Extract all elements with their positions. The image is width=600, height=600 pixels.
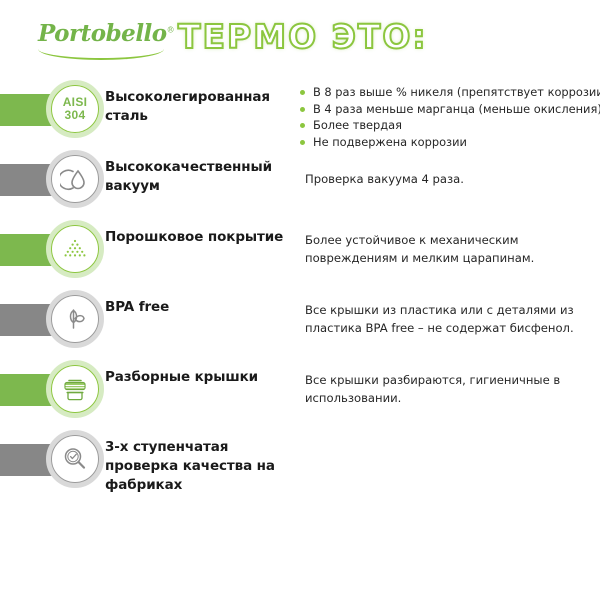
icon-circle-inner [51, 155, 99, 203]
powder-dots-icon [60, 234, 90, 264]
feature-description: Все крышки разбираются, гигиеничные в ис… [305, 371, 597, 407]
feature-title: Высоколегированная сталь [105, 88, 285, 126]
water-drop-icon [60, 164, 90, 194]
magnifier-check-icon [60, 444, 90, 474]
icon-circle [46, 290, 104, 348]
icon-circle: AISI 304 [46, 80, 104, 138]
header: Portobello® ТЕРМО ЭТО: [0, 0, 600, 80]
feature-description: Более устойчивое к механическим поврежде… [305, 231, 597, 267]
feature-description: Проверка вакуума 4 раза. [305, 170, 597, 188]
portobello-logo: Portobello® [38, 22, 168, 62]
feature-title: Высококачественный вакуум [105, 158, 285, 196]
list-item: Не подвержена коррозии [300, 134, 600, 151]
feature-title: Порошковое покрытие [105, 228, 285, 247]
feature-title: BPA free [105, 298, 285, 317]
icon-circle [46, 360, 104, 418]
feature-title: Разборные крышки [105, 368, 285, 387]
feature-row-steel: AISI 304 Высоколегированная сталь В 8 ра… [0, 80, 600, 150]
feature-row-powder-coating: Порошковое покрытие Более устойчивое к м… [0, 220, 600, 290]
icon-circle-inner [51, 225, 99, 273]
aisi-grade: 304 [63, 109, 88, 122]
leaf-icon [60, 304, 90, 334]
registered-mark-icon: ® [167, 25, 175, 34]
feature-row-vacuum: Высококачественный вакуум Проверка вакуу… [0, 150, 600, 220]
icon-circle-inner [51, 435, 99, 483]
feature-bullets: В 8 раз выше % никеля (препятствует корр… [300, 84, 600, 150]
feature-row-bpa-free: BPA free Все крышки из пластика или с де… [0, 290, 600, 360]
icon-circle [46, 430, 104, 488]
feature-list: AISI 304 Высоколегированная сталь В 8 ра… [0, 80, 600, 500]
list-item: В 8 раз выше % никеля (препятствует корр… [300, 84, 600, 101]
aisi-304-badge-icon: AISI 304 [63, 96, 88, 122]
feature-row-quality-check: 3-х ступенчатая проверка качества на фаб… [0, 430, 600, 500]
list-item: Более твердая [300, 117, 600, 134]
logo-swoosh-icon [38, 49, 164, 60]
feature-description: Все крышки из пластика или с деталями из… [305, 301, 597, 337]
logo-wordmark: Portobello® [38, 22, 168, 45]
list-item: В 4 раза меньше марганца (меньше окислен… [300, 101, 600, 118]
icon-circle-inner: AISI 304 [51, 85, 99, 133]
icon-circle-inner [51, 295, 99, 343]
logo-text: Portobello [38, 20, 167, 47]
feature-row-detachable-lids: Разборные крышки Все крышки разбираются,… [0, 360, 600, 430]
icon-circle [46, 150, 104, 208]
icon-circle [46, 220, 104, 278]
feature-title: 3-х ступенчатая проверка качества на фаб… [105, 438, 285, 495]
icon-circle-inner [51, 365, 99, 413]
lid-parts-icon [59, 373, 91, 405]
page-title: ТЕРМО ЭТО: [178, 17, 428, 56]
